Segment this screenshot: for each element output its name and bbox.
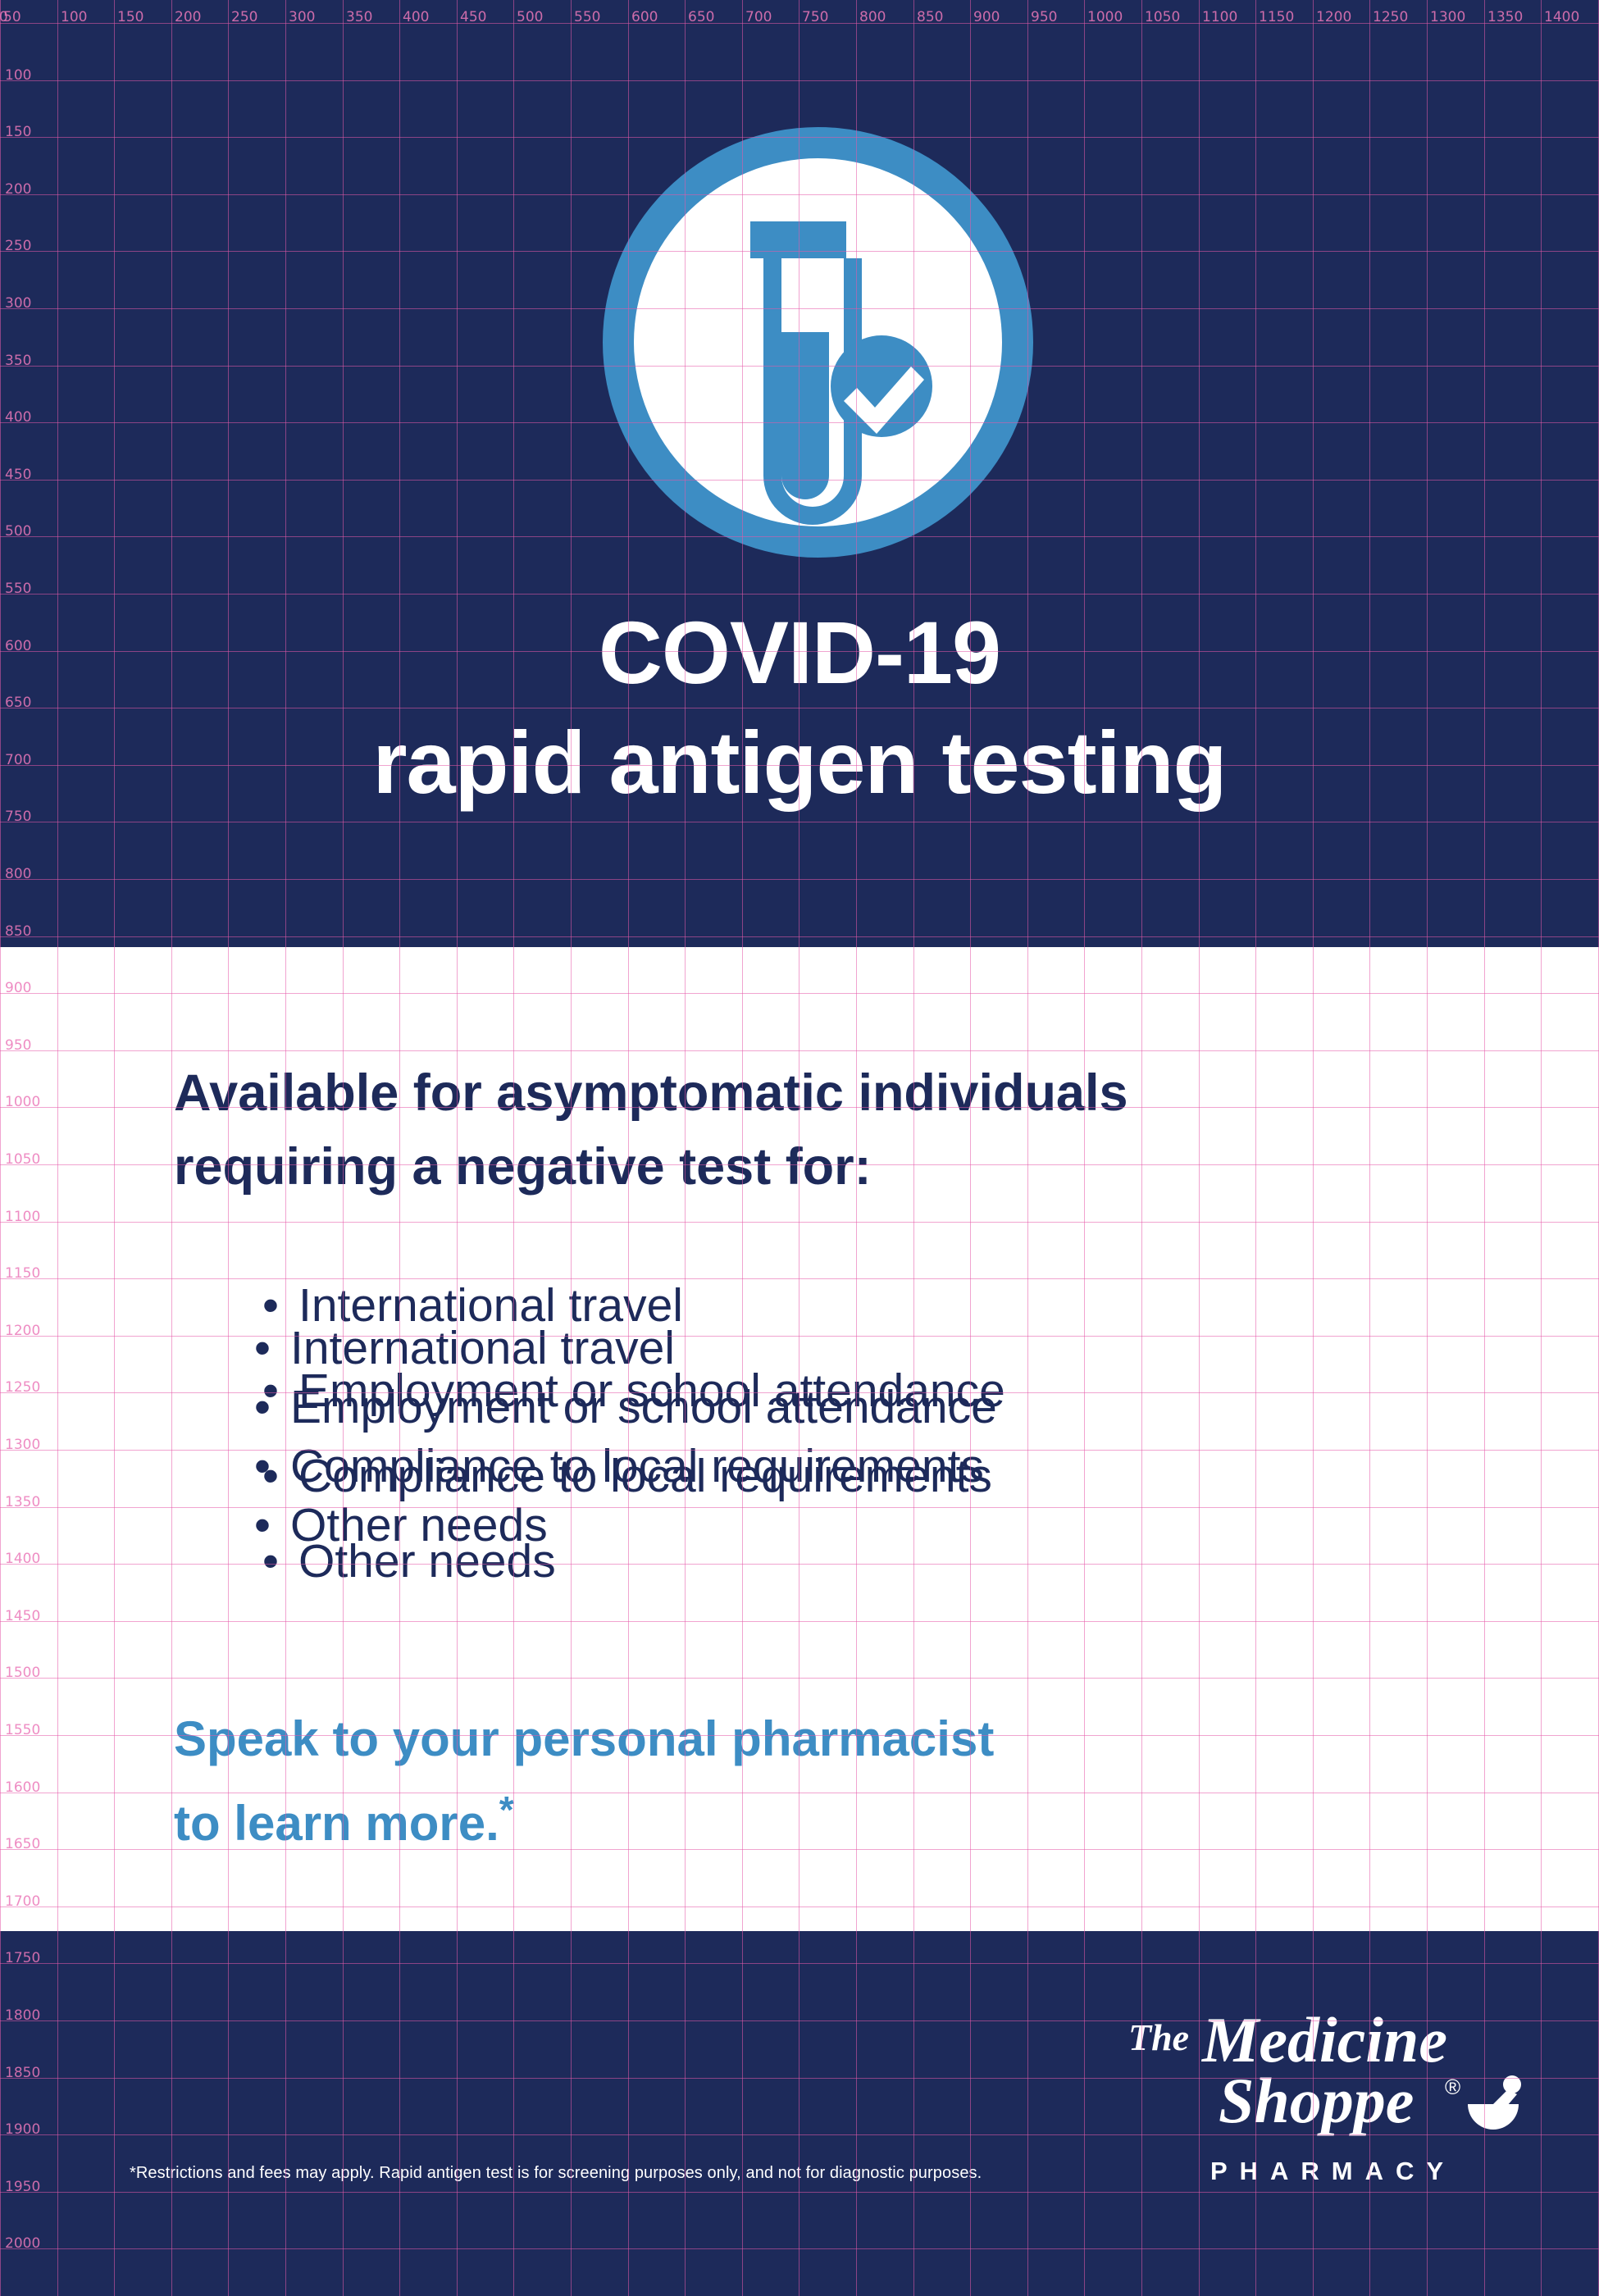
list-item: Compliance to local requirements [254,1437,997,1496]
benefits-list-overlay: International travel Employment or schoo… [254,1319,997,1555]
brand-logo: The Medicine Shoppe ® PHARMACY [1114,2007,1540,2200]
disclaimer-text: *Restrictions and fees may apply. Rapid … [130,2164,982,2183]
body-heading-line-2: requiring a negative test for: [174,1130,1486,1204]
icon-glyphs [603,127,1033,558]
brand-tagline: PHARMACY [1114,2157,1540,2186]
headline-line-1: COVID-19 [0,607,1599,699]
list-item: Other needs [254,1496,997,1555]
brand-wordmark: The Medicine Shoppe ® [1114,2007,1540,2155]
call-to-action: Speak to your personal pharmacist to lea… [174,1704,1240,1859]
cta-line-1: Speak to your personal pharmacist [174,1704,1240,1774]
poster-canvas: COVID-19 rapid antigen testing Available… [0,0,1599,2296]
body-heading-line-1: Available for asymptomatic individuals [174,1056,1486,1130]
headline-line-2: rapid antigen testing [0,717,1599,809]
brand-the-text: The [1128,2016,1189,2058]
cta-line-2-wrap: to learn more.* [174,1774,1240,1859]
mortar-and-pestle-icon [1468,2075,1521,2130]
page-title: COVID-19 rapid antigen testing [0,607,1599,809]
list-item: International travel [254,1319,997,1378]
list-item: Employment or school attendance [254,1378,997,1437]
cta-line-2: to learn more. [174,1796,499,1851]
cta-asterisk: * [499,1788,514,1831]
body-heading: Available for asymptomatic individuals r… [174,1056,1486,1204]
test-tube-check-icon [603,127,1033,558]
brand-shoppe-text: Shoppe [1219,2065,1414,2136]
brand-registered-mark: ® [1445,2075,1460,2099]
